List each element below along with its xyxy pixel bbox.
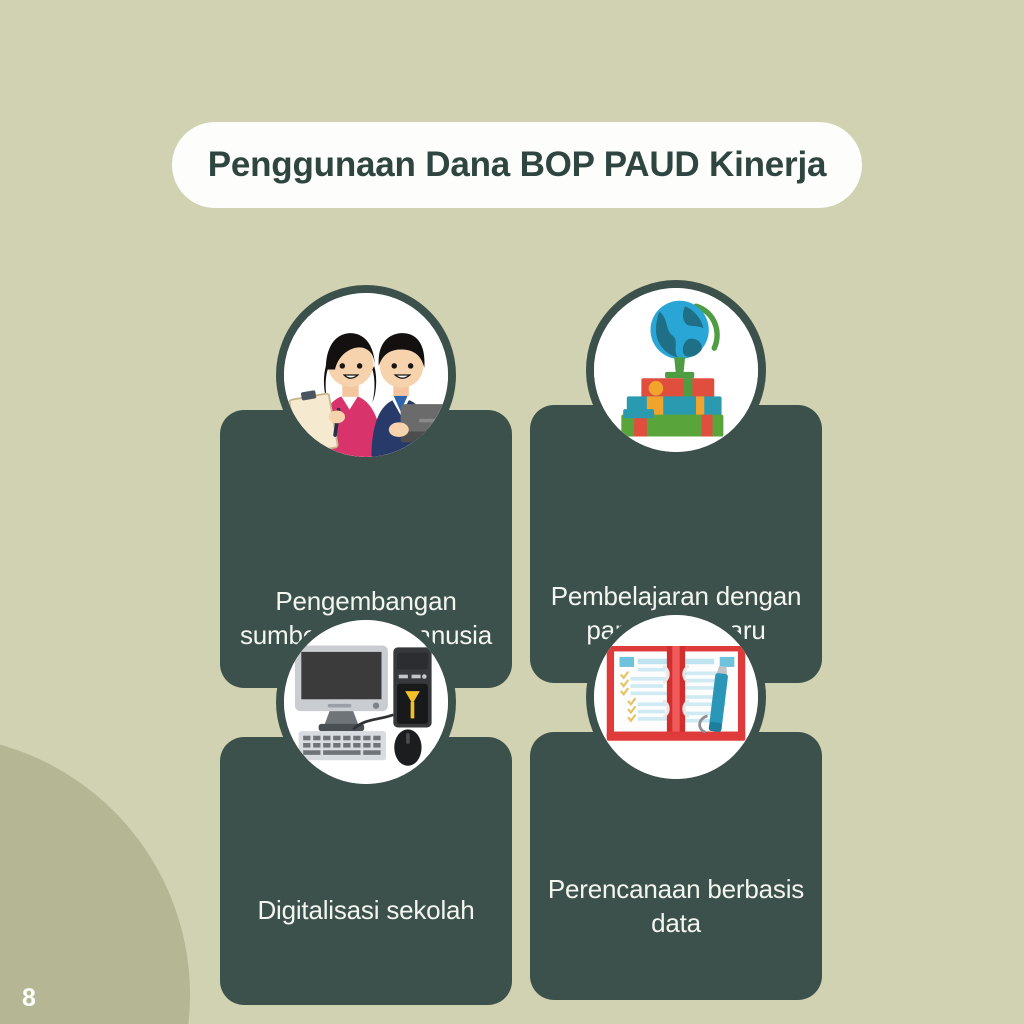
desktop-computer-icon xyxy=(276,612,456,792)
page-title: Penggunaan Dana BOP PAUD Kinerja xyxy=(208,145,827,185)
planner-book-pen-icon xyxy=(586,607,766,787)
page-number: 8 xyxy=(22,986,36,1011)
card-label: Digitalisasi sekolah xyxy=(257,894,474,927)
title-pill: Penggunaan Dana BOP PAUD Kinerja xyxy=(172,122,862,208)
infographic-slide: 8 Penggunaan Dana BOP PAUD Kinerja xyxy=(0,0,1024,1024)
globe-on-books-icon xyxy=(586,280,766,460)
card-label: Perencanaan berbasis data xyxy=(546,873,806,940)
two-people-laptop-clipboard-icon xyxy=(276,285,456,465)
